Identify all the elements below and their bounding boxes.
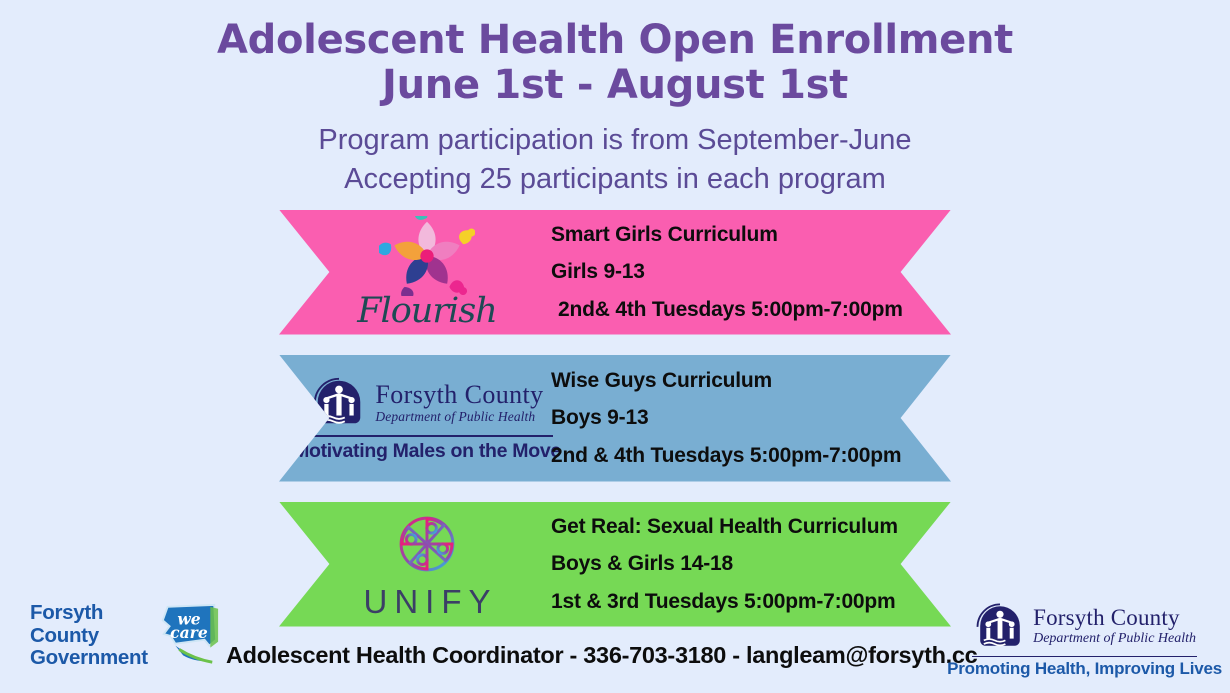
fcdph-program-tagline: Motivating Males on the Move xyxy=(293,440,561,463)
flourish-flower-icon xyxy=(379,216,475,296)
page-header: Adolescent Health Open Enrollment June 1… xyxy=(0,0,1230,199)
forsyth-county-health-seal-icon xyxy=(310,373,368,431)
flourish-text-column: Smart Girls Curriculum Girls 9-13 2nd& 4… xyxy=(551,216,951,328)
flourish-curriculum: Smart Girls Curriculum xyxy=(551,216,905,253)
fcgov-line1: Forsyth xyxy=(30,602,148,625)
subtitle-line1: Program participation is from September-… xyxy=(0,121,1230,160)
program-banner-list: Flourish Smart Girls Curriculum Girls 9-… xyxy=(0,210,1230,627)
fcdph-footer-tagline: Promoting Health, Improving Lives xyxy=(947,659,1222,679)
we-care-badge-icon: we care xyxy=(154,601,222,667)
unify-curriculum: Get Real: Sexual Health Curriculum xyxy=(551,508,905,545)
wise-guys-text-column: Wise Guys Curriculum Boys 9-13 2nd & 4th… xyxy=(551,362,951,474)
fcdph-logo-column: Forsyth County Department of Public Heal… xyxy=(279,355,551,482)
fcgov-wordmark: Forsyth County Government xyxy=(30,602,148,671)
program-banner-flourish[interactable]: Flourish Smart Girls Curriculum Girls 9-… xyxy=(279,210,951,335)
page-title-line2: June 1st - August 1st xyxy=(0,63,1230,108)
forsyth-county-government-logo: Forsyth County Government we care xyxy=(30,601,222,671)
unify-circle-icon xyxy=(390,507,464,581)
fcdph-footer-name-line2: Department of Public Health xyxy=(1033,632,1196,646)
subtitle-block: Program participation is from September-… xyxy=(0,121,1230,198)
page-footer: Forsyth County Government we care Adoles… xyxy=(0,593,1230,693)
flourish-audience: Girls 9-13 xyxy=(551,253,905,290)
wise-guys-curriculum: Wise Guys Curriculum xyxy=(551,362,905,399)
flourish-logo-column: Flourish xyxy=(279,210,551,335)
contact-line[interactable]: Adolescent Health Coordinator - 336-703-… xyxy=(226,642,977,669)
fcdph-footer-name-line1: Forsyth County xyxy=(1033,606,1196,629)
unify-audience: Boys & Girls 14-18 xyxy=(551,545,905,582)
fcgov-line2: County xyxy=(30,625,148,648)
fcdph-name-line2: Department of Public Health xyxy=(375,410,543,424)
page-title-line1: Adolescent Health Open Enrollment xyxy=(0,18,1230,63)
flourish-wordmark: Flourish xyxy=(357,294,497,329)
fcgov-line3: Government xyxy=(30,647,148,670)
subtitle-line2: Accepting 25 participants in each progra… xyxy=(0,160,1230,199)
fcdph-name-line1: Forsyth County xyxy=(375,382,543,408)
we-care-text-care: care xyxy=(170,623,208,642)
fcdph-footer-divider xyxy=(972,656,1197,658)
forsyth-county-health-seal-footer-icon xyxy=(973,599,1027,653)
forsyth-county-public-health-footer-logo: Forsyth County Department of Public Heal… xyxy=(947,599,1222,680)
flourish-schedule: 2nd& 4th Tuesdays 5:00pm-7:00pm xyxy=(551,291,905,328)
wise-guys-schedule: 2nd & 4th Tuesdays 5:00pm-7:00pm xyxy=(551,437,905,474)
fcdph-divider xyxy=(301,435,553,437)
wise-guys-audience: Boys 9-13 xyxy=(551,399,905,436)
program-banner-wise-guys[interactable]: Forsyth County Department of Public Heal… xyxy=(279,355,951,482)
